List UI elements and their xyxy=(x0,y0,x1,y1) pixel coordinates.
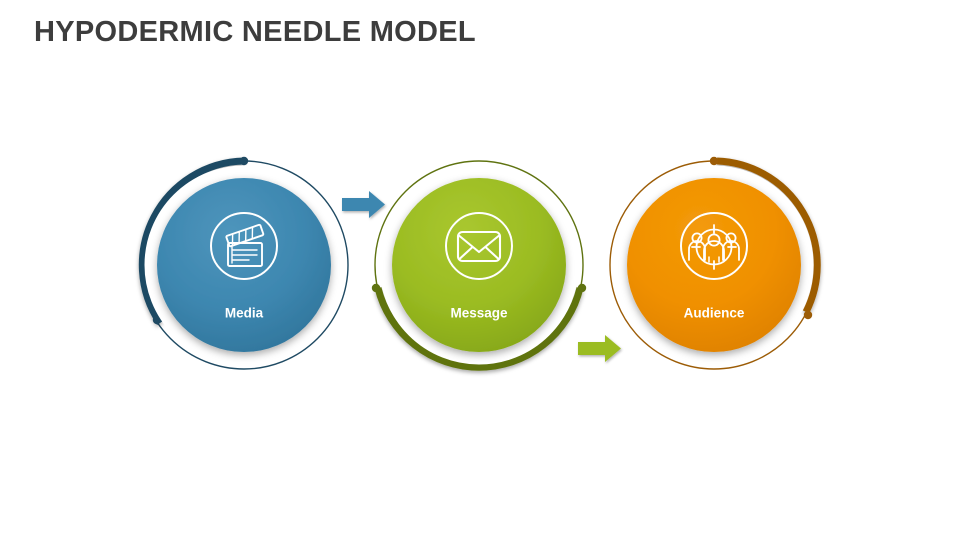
audience-arc-dot-end xyxy=(804,311,812,319)
media-label: Media xyxy=(225,306,264,321)
audience-arc-dot-start xyxy=(710,157,718,165)
arrow-message-to-audience xyxy=(578,335,621,362)
arrow-right-icon xyxy=(578,335,621,362)
hypodermic-needle-diagram: Media xyxy=(0,0,960,540)
message-label: Message xyxy=(450,306,508,321)
slide-canvas: HYPODERMIC NEEDLE MODEL xyxy=(0,0,960,540)
message-disc[interactable] xyxy=(392,178,566,352)
message-arc-dot-start xyxy=(372,284,380,292)
media-disc[interactable] xyxy=(157,178,331,352)
node-message[interactable]: Message xyxy=(372,161,586,369)
node-audience[interactable]: Audience xyxy=(610,157,818,369)
media-arc-dot-start xyxy=(240,157,248,165)
node-media[interactable]: Media xyxy=(140,157,348,369)
arrow-media-to-message xyxy=(342,191,385,218)
audience-label: Audience xyxy=(684,306,745,321)
message-arc-dot-end xyxy=(578,284,586,292)
arrow-right-icon xyxy=(342,191,385,218)
